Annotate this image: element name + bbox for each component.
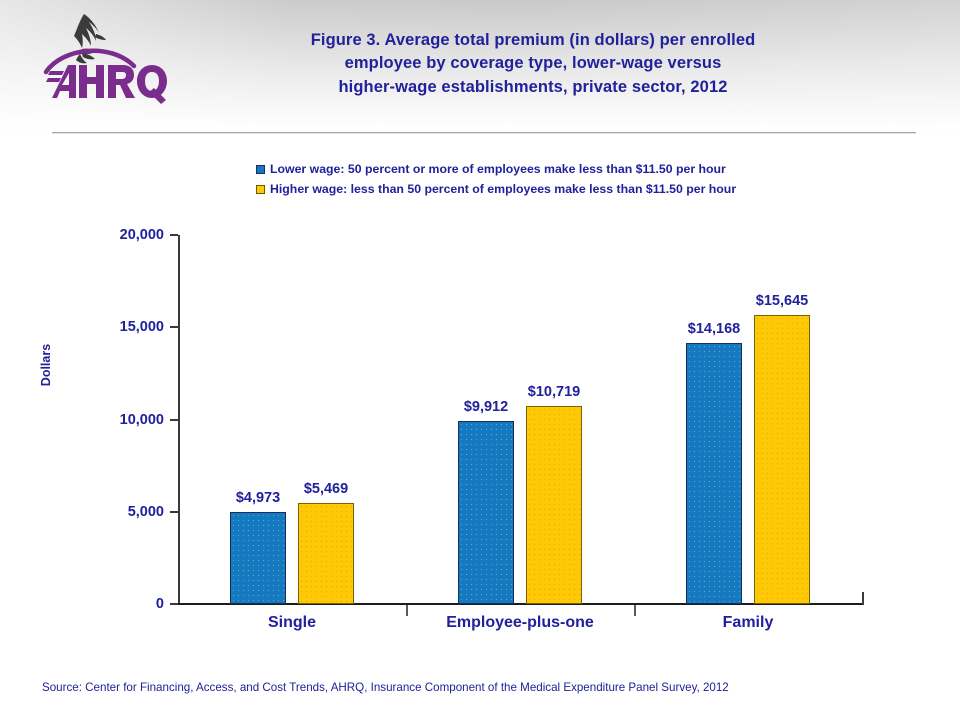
legend-swatch-lower-wage (256, 165, 265, 174)
y-axis-tick (170, 419, 178, 421)
x-axis-category-label: Single (178, 614, 406, 632)
header-divider (52, 132, 916, 134)
bar-single-lower-wage[interactable] (230, 512, 286, 604)
x-axis-category-label: Family (634, 614, 862, 632)
y-axis-title: Dollars (39, 305, 53, 425)
bar-value-label: $4,973 (236, 490, 280, 506)
y-axis-tick-label: 10,000 (64, 412, 164, 428)
chart-legend: Lower wage: 50 percent or more of employ… (256, 159, 816, 199)
y-axis-tick (170, 326, 178, 328)
bar-texture (687, 344, 741, 603)
source-note: Source: Center for Financing, Access, an… (42, 681, 729, 694)
bar-family-higher-wage[interactable] (754, 315, 810, 604)
bar-family-lower-wage[interactable] (686, 343, 742, 604)
bar-value-label: $5,469 (304, 481, 348, 497)
y-axis-tick (170, 234, 178, 236)
bar-employee-plus-one-lower-wage[interactable] (458, 421, 514, 604)
legend-label-higher-wage: Higher wage: less than 50 percent of emp… (270, 182, 736, 196)
figure-page: Figure 3. Average total premium (in doll… (0, 0, 960, 720)
plot-area: $4,973$5,469$9,912$10,719$14,168$15,645 (178, 235, 862, 604)
page-title-line-3: higher-wage establishments, private sect… (228, 76, 838, 99)
y-axis-tick (170, 511, 178, 513)
page-title: Figure 3. Average total premium (in doll… (228, 29, 838, 99)
y-axis-tick (170, 603, 178, 605)
y-axis-tick-label: 0 (64, 596, 164, 612)
bar-value-label: $14,168 (688, 321, 740, 337)
bar-single-higher-wage[interactable] (298, 503, 354, 604)
bar-employee-plus-one-higher-wage[interactable] (526, 406, 582, 604)
bar-texture (231, 513, 285, 603)
y-axis-tick-label: 5,000 (64, 504, 164, 520)
bar-value-label: $10,719 (528, 384, 580, 400)
legend-label-lower-wage: Lower wage: 50 percent or more of employ… (270, 162, 726, 176)
bar-value-label: $9,912 (464, 399, 508, 415)
bar-texture (299, 504, 353, 603)
y-axis-tick-label: 20,000 (64, 227, 164, 243)
legend-swatch-higher-wage (256, 185, 265, 194)
y-axis-tick-label: 15,000 (64, 319, 164, 335)
legend-item-lower-wage[interactable]: Lower wage: 50 percent or more of employ… (256, 159, 816, 179)
page-title-line-2: employee by coverage type, lower-wage ve… (228, 52, 838, 75)
page-title-line-1: Figure 3. Average total premium (in doll… (228, 29, 838, 52)
bar-texture (459, 422, 513, 603)
bar-texture (527, 407, 581, 603)
legend-item-higher-wage[interactable]: Higher wage: less than 50 percent of emp… (256, 179, 816, 199)
y-axis-labels: 05,00010,00015,00020,000 (58, 0, 164, 720)
bar-value-label: $15,645 (756, 293, 808, 309)
x-axis-right-cap (862, 592, 864, 605)
bar-texture (755, 316, 809, 603)
x-axis-category-label: Employee-plus-one (406, 614, 634, 632)
